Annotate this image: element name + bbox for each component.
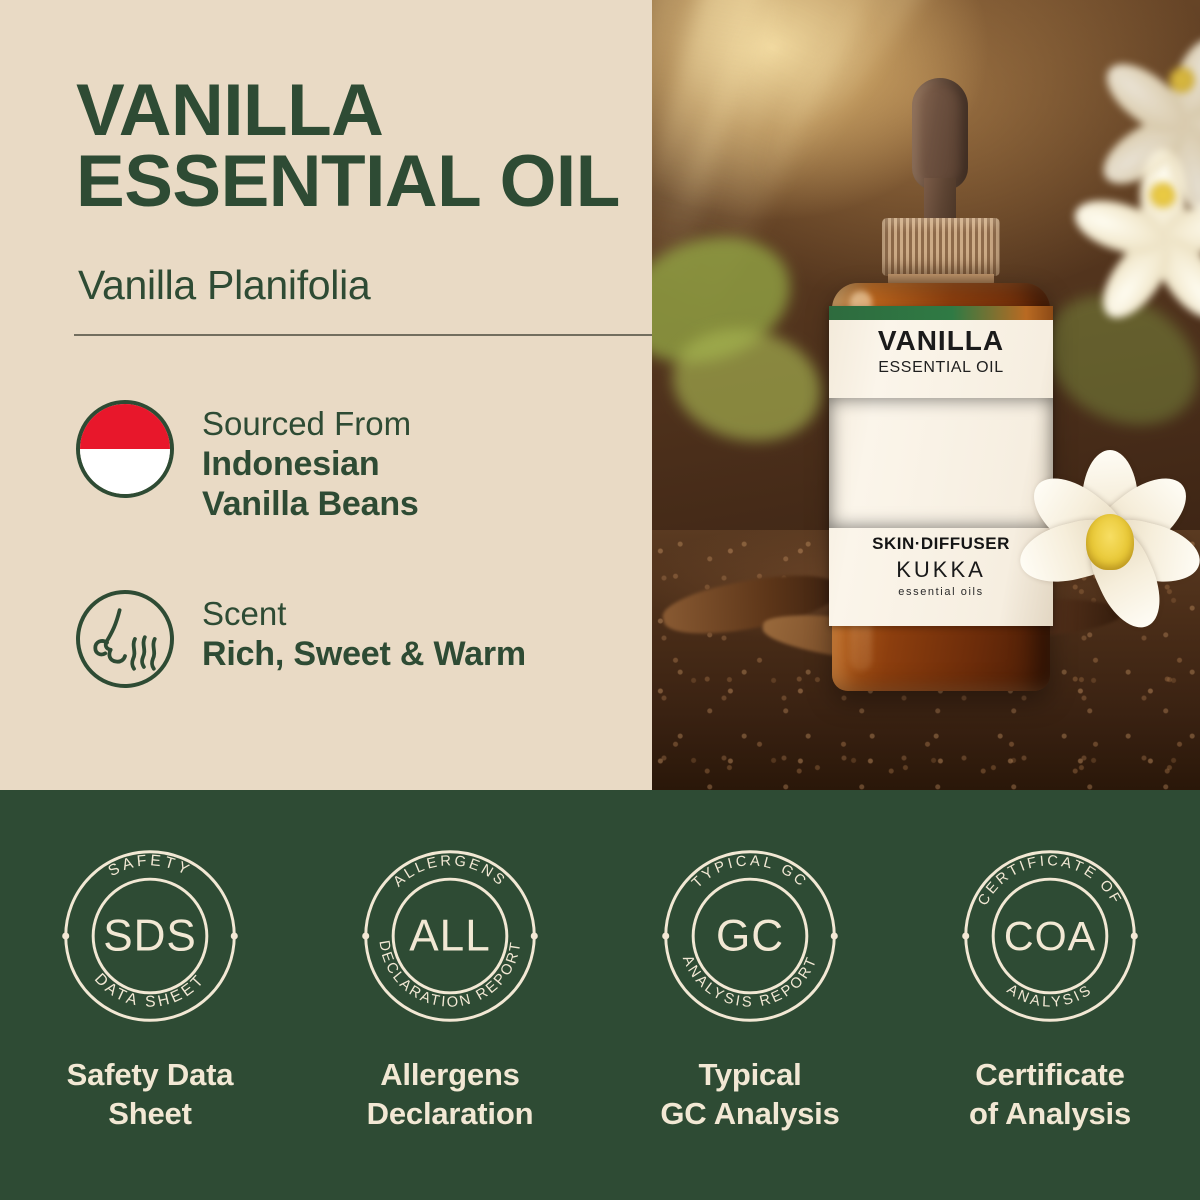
allergens-badge-icon[interactable]: ALLERGENS DECLARATION REPORT ALL <box>352 838 548 1034</box>
page-title: VANILLA ESSENTIAL OIL <box>76 76 836 218</box>
label-title-block: VANILLA ESSENTIAL OIL <box>829 326 1053 377</box>
sds-badge-icon[interactable]: SAFETY DATA SHEET SDS <box>52 838 248 1034</box>
certifications-section: SAFETY DATA SHEET SDS Safety Data Sheet <box>0 790 1200 1200</box>
feature-scent: Scent Rich, Sweet & Warm <box>76 590 526 688</box>
svg-text:TYPICAL GC: TYPICAL GC <box>689 853 811 891</box>
caption-line-2: of Analysis <box>969 1095 1131 1134</box>
flag-red-band <box>80 404 170 449</box>
certification-badge-row: SAFETY DATA SHEET SDS Safety Data Sheet <box>0 790 1200 1200</box>
flower-center <box>1086 514 1134 570</box>
header-divider <box>74 334 652 336</box>
certification-sds[interactable]: SAFETY DATA SHEET SDS Safety Data Sheet <box>0 790 300 1200</box>
background-vanilla-flower <box>1122 20 1200 140</box>
badge-abbr: SDS <box>103 912 197 961</box>
feature-text-block: Scent Rich, Sweet & Warm <box>202 590 526 674</box>
feature-value-line-1: Indonesian <box>202 444 419 484</box>
botanical-name: Vanilla Planifolia <box>78 262 370 309</box>
label-product-subtitle: ESSENTIAL OIL <box>829 359 1053 377</box>
label-top-stripe <box>829 306 1053 320</box>
svg-text:ANALYSIS: ANALYSIS <box>1004 982 1096 1011</box>
feature-value-line-1: Rich, Sweet & Warm <box>202 634 526 674</box>
feature-sourced-from: Sourced From Indonesian Vanilla Beans <box>76 400 419 524</box>
badge-ring-top: CERTIFICATE OF <box>975 853 1125 908</box>
title-line-2: ESSENTIAL OIL <box>76 147 836 218</box>
feature-text-block: Sourced From Indonesian Vanilla Beans <box>202 400 419 524</box>
gc-badge-icon[interactable]: TYPICAL GC ANALYSIS REPORT GC <box>652 838 848 1034</box>
dropper-bulb <box>912 78 968 190</box>
badge-abbr: COA <box>1004 913 1096 959</box>
badge-abbr: ALL <box>409 912 490 961</box>
caption-line-2: Declaration <box>367 1095 534 1134</box>
nose-scent-icon <box>76 590 174 688</box>
indonesia-flag-icon <box>76 400 174 498</box>
flag-white-band <box>80 449 170 494</box>
certification-coa[interactable]: CERTIFICATE OF ANALYSIS COA Certificate … <box>900 790 1200 1200</box>
caption-line-2: Sheet <box>67 1095 234 1134</box>
coa-badge-icon[interactable]: CERTIFICATE OF ANALYSIS COA <box>952 838 1148 1034</box>
feature-label: Sourced From <box>202 404 419 444</box>
label-product-name: VANILLA <box>829 326 1053 355</box>
hero-section: VANILLA ESSENTIAL OIL SKIN·DIFFUSER KUKK… <box>0 0 1200 790</box>
svg-text:ALLERGENS: ALLERGENS <box>391 853 510 890</box>
badge-ring-top: TYPICAL GC <box>689 853 811 891</box>
caption-line-1: Allergens <box>367 1056 534 1095</box>
certification-gc[interactable]: TYPICAL GC ANALYSIS REPORT GC Typical GC… <box>600 790 900 1200</box>
title-line-1: VANILLA <box>76 76 836 147</box>
badge-ring-bottom: ANALYSIS <box>1004 982 1096 1011</box>
certification-caption: Certificate of Analysis <box>969 1056 1131 1134</box>
badge-ring-top: ALLERGENS <box>391 853 510 890</box>
caption-line-2: GC Analysis <box>660 1095 839 1134</box>
svg-text:CERTIFICATE OF: CERTIFICATE OF <box>975 853 1125 908</box>
bottle-cap <box>882 218 1000 276</box>
certification-caption: Allergens Declaration <box>367 1056 534 1134</box>
badge-abbr: GC <box>716 912 784 961</box>
certification-caption: Typical GC Analysis <box>660 1056 839 1134</box>
caption-line-1: Safety Data <box>67 1056 234 1095</box>
certification-caption: Safety Data Sheet <box>67 1056 234 1134</box>
caption-line-1: Typical <box>660 1056 839 1095</box>
feature-label: Scent <box>202 594 526 634</box>
badge-ring-bottom: DATA SHEET <box>91 970 209 1010</box>
vanilla-orchid-flower <box>1020 452 1200 632</box>
caption-line-1: Certificate <box>969 1056 1131 1095</box>
product-infographic: VANILLA ESSENTIAL OIL SKIN·DIFFUSER KUKK… <box>0 0 1200 1200</box>
feature-value-line-2: Vanilla Beans <box>202 484 419 524</box>
svg-text:DATA SHEET: DATA SHEET <box>91 970 209 1010</box>
certification-allergens[interactable]: ALLERGENS DECLARATION REPORT ALL Allerge… <box>300 790 600 1200</box>
